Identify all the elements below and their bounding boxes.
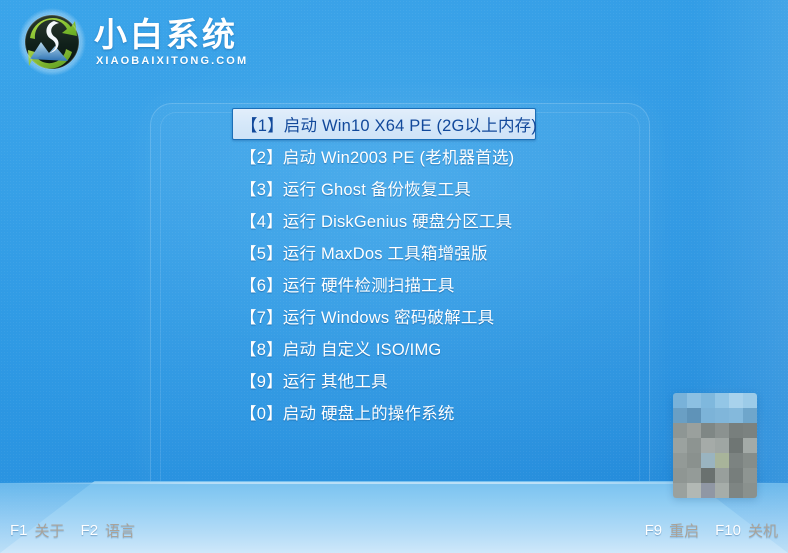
mosaic-cell	[729, 453, 743, 468]
boot-menu-item-3[interactable]: 【3】运行 Ghost 备份恢复工具	[232, 172, 536, 204]
boot-menu-item-number: 【5】	[240, 240, 283, 264]
boot-menu-item-number: 【6】	[240, 272, 283, 296]
mosaic-cell	[701, 393, 715, 408]
mosaic-cell	[729, 423, 743, 438]
status-label-f9[interactable]: 重启	[669, 520, 699, 541]
boot-menu-item-label: 启动 自定义 ISO/IMG	[283, 336, 442, 360]
boot-menu-item-1[interactable]: 【1】启动 Win10 X64 PE (2G以上内存)	[232, 108, 536, 140]
boot-menu-item-label: 启动 Win10 X64 PE (2G以上内存)	[284, 112, 537, 136]
boot-menu-item-label: 运行 Windows 密码破解工具	[283, 304, 495, 328]
boot-menu-screen: 小白系统 XIAOBAIXITONG.COM 【1】启动 Win10 X64 P…	[0, 0, 788, 553]
mosaic-cell	[743, 483, 757, 498]
boot-menu-item-number: 【7】	[240, 304, 283, 328]
mosaic-cell	[701, 423, 715, 438]
boot-menu-item-number: 【3】	[240, 176, 283, 200]
mosaic-cell	[673, 393, 687, 408]
status-bar: F1关于F2语言 F9重启F10关机	[0, 517, 788, 543]
brand-text: 小白系统 XIAOBAIXITONG.COM	[94, 17, 248, 67]
mosaic-cell	[715, 408, 729, 423]
mosaic-cell	[729, 483, 743, 498]
mosaic-cell	[701, 468, 715, 483]
status-key-f1[interactable]: F1	[10, 522, 28, 539]
mosaic-cell	[715, 453, 729, 468]
mosaic-cell	[715, 483, 729, 498]
brand-name-cn: 小白系统	[94, 17, 248, 54]
boot-menu-item-label: 运行 硬件检测扫描工具	[283, 272, 455, 296]
mosaic-cell	[687, 483, 701, 498]
brand-logo: 小白系统 XIAOBAIXITONG.COM	[14, 4, 248, 80]
mosaic-cell	[715, 468, 729, 483]
status-key-f10[interactable]: F10	[715, 522, 741, 539]
boot-menu-item-label: 运行 Ghost 备份恢复工具	[283, 176, 471, 200]
status-label-f10[interactable]: 关机	[748, 520, 778, 541]
status-label-f1[interactable]: 关于	[35, 520, 65, 541]
status-bar-right: F9重启F10关机	[645, 520, 778, 541]
mosaic-cell	[673, 438, 687, 453]
boot-menu-item-number: 【4】	[240, 208, 283, 232]
boot-menu-item-number: 【0】	[240, 400, 283, 424]
mosaic-cell	[743, 453, 757, 468]
mosaic-cell	[673, 453, 687, 468]
boot-menu-item-label: 启动 硬盘上的操作系统	[283, 400, 455, 424]
mosaic-cell	[687, 438, 701, 453]
mosaic-cell	[715, 438, 729, 453]
boot-menu-item-10[interactable]: 【0】启动 硬盘上的操作系统	[232, 396, 536, 428]
mosaic-cell	[701, 483, 715, 498]
boot-menu-item-2[interactable]: 【2】启动 Win2003 PE (老机器首选)	[232, 140, 536, 172]
mosaic-cell	[743, 423, 757, 438]
mosaic-cell	[729, 438, 743, 453]
mosaic-cell	[743, 438, 757, 453]
boot-menu-item-5[interactable]: 【5】运行 MaxDos 工具箱增强版	[232, 236, 536, 268]
status-bar-left: F1关于F2语言	[10, 520, 135, 541]
mosaic-cell	[687, 468, 701, 483]
mosaic-cell	[701, 438, 715, 453]
mosaic-cell	[687, 393, 701, 408]
boot-menu-item-label: 启动 Win2003 PE (老机器首选)	[283, 144, 515, 168]
boot-menu-item-label: 运行 DiskGenius 硬盘分区工具	[283, 208, 513, 232]
boot-menu-item-8[interactable]: 【8】启动 自定义 ISO/IMG	[232, 332, 536, 364]
censored-watermark	[673, 393, 757, 498]
boot-menu-item-label: 运行 其他工具	[283, 368, 388, 392]
mosaic-cell	[729, 468, 743, 483]
boot-menu-item-9[interactable]: 【9】运行 其他工具	[232, 364, 536, 396]
recycle-circle-logo-icon	[14, 4, 90, 80]
mosaic-cell	[687, 423, 701, 438]
boot-menu-item-4[interactable]: 【4】运行 DiskGenius 硬盘分区工具	[232, 204, 536, 236]
brand-name-en: XIAOBAIXITONG.COM	[96, 56, 248, 67]
mosaic-cell	[673, 408, 687, 423]
status-key-f2[interactable]: F2	[81, 522, 99, 539]
mosaic-cell	[673, 483, 687, 498]
boot-menu-item-number: 【2】	[240, 144, 283, 168]
mosaic-cell	[743, 468, 757, 483]
mosaic-cell	[687, 453, 701, 468]
mosaic-cell	[673, 468, 687, 483]
mosaic-cell	[701, 453, 715, 468]
boot-menu-item-6[interactable]: 【6】运行 硬件检测扫描工具	[232, 268, 536, 300]
boot-menu-item-number: 【8】	[240, 336, 283, 360]
mosaic-cell	[715, 393, 729, 408]
boot-menu-item-number: 【9】	[240, 368, 283, 392]
mosaic-cell	[701, 408, 715, 423]
mosaic-cell	[729, 408, 743, 423]
mosaic-cell	[687, 408, 701, 423]
boot-menu-item-7[interactable]: 【7】运行 Windows 密码破解工具	[232, 300, 536, 332]
mosaic-cell	[673, 423, 687, 438]
mosaic-cell	[715, 423, 729, 438]
boot-menu-item-number: 【1】	[241, 112, 284, 136]
mosaic-cell	[743, 408, 757, 423]
mosaic-cell	[743, 393, 757, 408]
boot-menu-item-label: 运行 MaxDos 工具箱增强版	[283, 240, 488, 264]
boot-menu-list: 【1】启动 Win10 X64 PE (2G以上内存)【2】启动 Win2003…	[232, 108, 536, 428]
status-key-f9[interactable]: F9	[645, 522, 663, 539]
status-label-f2[interactable]: 语言	[105, 520, 135, 541]
mosaic-cell	[729, 393, 743, 408]
